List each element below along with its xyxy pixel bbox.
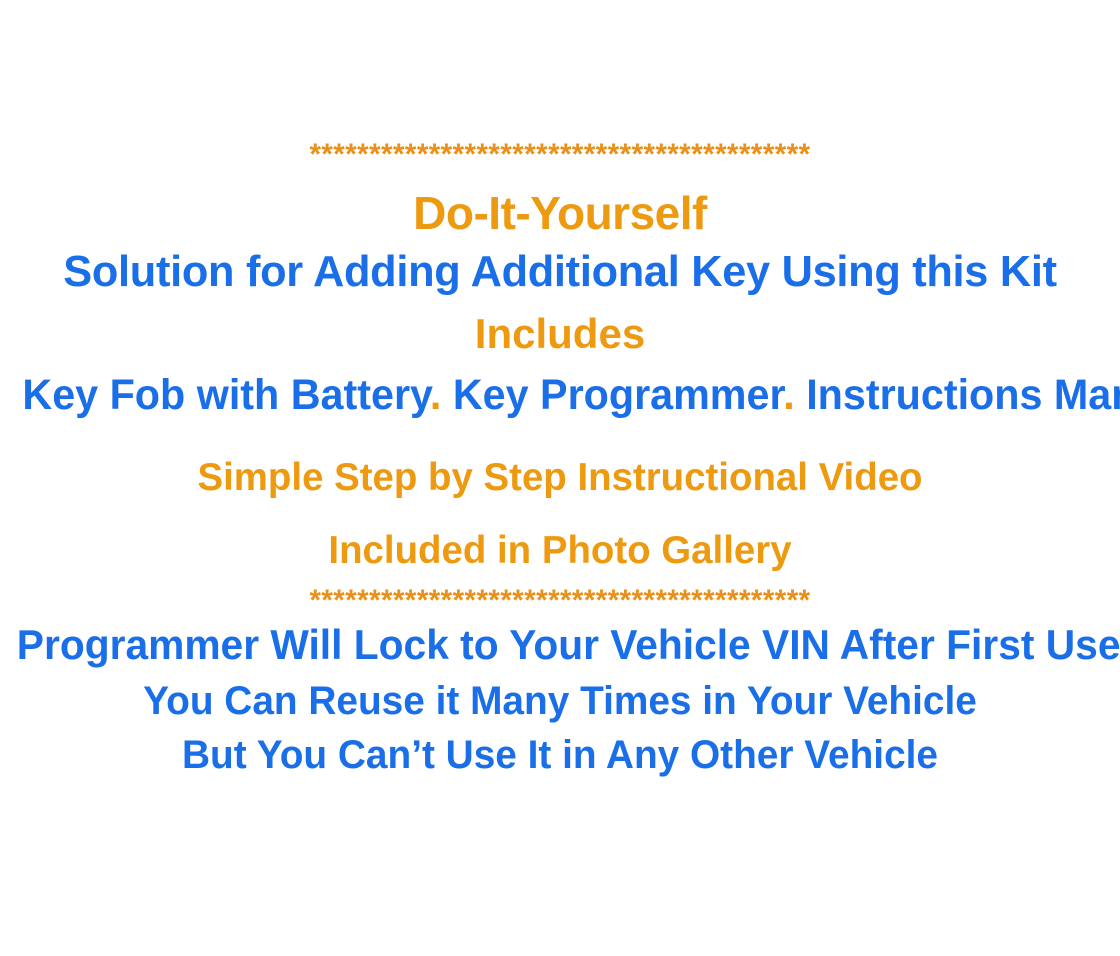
headline-do-it-yourself: Do-It-Yourself — [0, 190, 1120, 236]
subheadline-solution: Solution for Adding Additional Key Using… — [8, 250, 1111, 294]
asterisk-divider-top: ****************************************… — [11, 140, 1109, 170]
kit-item-key-programmer: Key Programmer — [453, 371, 783, 419]
kit-item-key-fob: Key Fob with Battery — [22, 371, 430, 419]
notice-vin-lock: Programmer Will Lock to Your Vehicle VIN… — [17, 624, 1103, 666]
notice-other-vehicle: But You Can’t Use It in Any Other Vehicl… — [17, 735, 1103, 775]
asterisk-divider-bottom: ****************************************… — [11, 586, 1109, 616]
kit-separator-dot-2: . — [783, 371, 794, 419]
instructional-video-line: Simple Step by Step Instructional Video — [8, 458, 1111, 497]
promo-banner: ****************************************… — [0, 0, 1120, 956]
kit-item-instructions-manual: Instructions Manual — [806, 371, 1120, 419]
kit-contents-line: Key Fob with Battery. Key Programmer. In… — [22, 374, 1097, 417]
notice-reuse: You Can Reuse it Many Times in Your Vehi… — [17, 681, 1103, 721]
kit-separator-dot-1: . — [430, 371, 441, 419]
photo-gallery-line: Included in Photo Gallery — [8, 531, 1111, 570]
includes-label: Includes — [0, 313, 1120, 355]
